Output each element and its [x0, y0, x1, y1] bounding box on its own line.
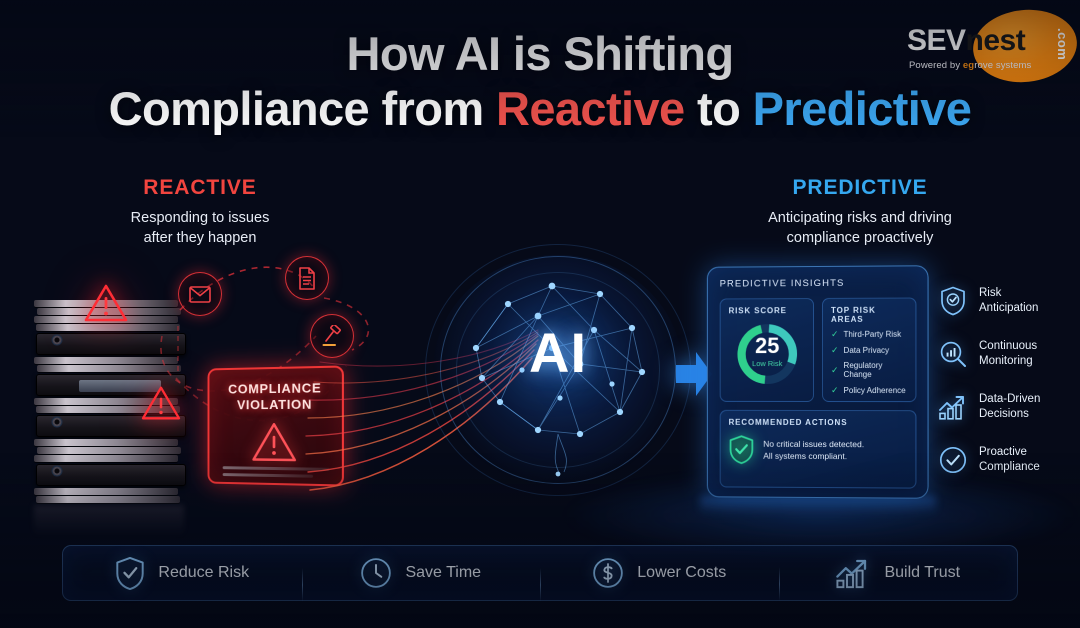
- dashboard-title: PREDICTIVE INSIGHTS: [720, 277, 917, 289]
- feature-item-data-driven-decisions[interactable]: Data-Driven Decisions: [938, 380, 1073, 433]
- benefit-label: Lower Costs: [637, 564, 726, 582]
- risk-area-label: Data Privacy: [844, 345, 890, 354]
- reactive-heading-block: REACTIVE Responding to issues after they…: [60, 176, 340, 248]
- feature-label-line2: Compliance: [979, 461, 1040, 473]
- list-item: ✓ Third-Party Risk: [831, 330, 907, 339]
- risk-score-level: Low Risk: [729, 359, 806, 368]
- benefit-label: Reduce Risk: [158, 564, 249, 582]
- benefit-item-build-trust[interactable]: Build Trust: [779, 556, 1018, 590]
- title-predictive-word: Predictive: [753, 82, 972, 135]
- envelope-icon: [178, 272, 222, 316]
- clock-icon: [360, 557, 392, 589]
- benefit-item-reduce-risk[interactable]: Reduce Risk: [63, 556, 302, 591]
- risk-area-label: Third-Party Risk: [844, 330, 902, 339]
- feature-label-line1: Risk: [979, 287, 1001, 299]
- feature-label-line1: Proactive: [979, 446, 1027, 458]
- feature-label-line2: Decisions: [979, 408, 1029, 420]
- benefits-bar: Reduce Risk Save Time Lower Costs: [62, 545, 1018, 601]
- risk-area-label: Policy Adherence: [844, 386, 906, 395]
- warning-triangle-icon: [251, 420, 298, 462]
- reactive-kicker: REACTIVE: [60, 176, 340, 200]
- recommended-actions-text: No critical issues detected. All systems…: [763, 438, 864, 463]
- stack-reflection: [34, 505, 184, 545]
- benefit-item-save-time[interactable]: Save Time: [302, 557, 541, 589]
- risk-area-label: Regulatory Change: [844, 361, 908, 379]
- title-line2-connector: to: [685, 82, 753, 135]
- title-reactive-word: Reactive: [496, 82, 685, 135]
- reactive-subtitle-line1: Responding to issues: [131, 210, 270, 226]
- shield-check-icon: [115, 556, 145, 591]
- check-icon: ✓: [831, 386, 839, 395]
- benefit-label: Build Trust: [884, 564, 960, 582]
- title-line-1: How AI is Shifting: [347, 27, 734, 80]
- list-item: ✓ Policy Adherence: [831, 386, 907, 395]
- compliance-violation-card: COMPLIANCE VIOLATION: [208, 365, 344, 486]
- recommended-actions-line2: All systems compliant.: [763, 451, 847, 461]
- predictive-subtitle-line2: compliance proactively: [787, 230, 934, 246]
- ai-brain-label: AI: [418, 320, 698, 385]
- shield-check-icon: [729, 435, 755, 465]
- document-icon: [285, 256, 329, 300]
- feature-label: Risk Anticipation: [979, 286, 1038, 315]
- dollar-circle-icon: [592, 557, 624, 589]
- predictive-subtitle: Anticipating risks and driving complianc…: [720, 209, 1000, 248]
- ai-brain: AI: [418, 246, 698, 494]
- risk-score-donut: 25 Low Risk: [729, 318, 806, 390]
- risk-score-header: RISK SCORE: [729, 306, 805, 315]
- feature-item-proactive-compliance[interactable]: Proactive Compliance: [938, 433, 1073, 486]
- infographic-canvas: SEVnest .com Powered by egrove systems H…: [0, 0, 1080, 628]
- page-title: How AI is Shifting Compliance from React…: [0, 26, 1080, 137]
- title-line-2: Compliance from Reactive to Predictive: [0, 81, 1080, 136]
- violation-line2: VIOLATION: [237, 397, 312, 413]
- feature-list: Risk Anticipation Continuous Monitoring: [938, 274, 1073, 486]
- recommended-actions-header: RECOMMENDED ACTIONS: [729, 418, 908, 427]
- risk-score-card[interactable]: RISK SCORE 25 Low Risk: [720, 298, 814, 402]
- risk-score-value: 25: [729, 335, 806, 357]
- list-item: ✓ Data Privacy: [831, 345, 907, 354]
- warning-triangle-icon: [140, 385, 182, 421]
- check-icon: ✓: [831, 365, 839, 374]
- violation-title: COMPLIANCE VIOLATION: [209, 380, 341, 414]
- recommended-actions-card[interactable]: RECOMMENDED ACTIONS No critical issues d…: [720, 410, 917, 489]
- gavel-icon: [310, 314, 354, 358]
- feature-label-line1: Continuous: [979, 340, 1037, 352]
- dashboard-base-glow: [700, 496, 936, 514]
- circle-check-icon: [938, 446, 968, 474]
- list-item: ✓ Regulatory Change: [831, 361, 907, 379]
- feature-label-line2: Anticipation: [979, 302, 1038, 314]
- predictive-insights-dashboard[interactable]: PREDICTIVE INSIGHTS RISK SCORE 25 Low Ri…: [707, 265, 929, 499]
- title-line2-prefix: Compliance from: [109, 82, 496, 135]
- predictive-subtitle-line1: Anticipating risks and driving: [768, 210, 952, 226]
- magnifier-chart-icon: [938, 340, 968, 368]
- reactive-subtitle-line2: after they happen: [144, 230, 257, 246]
- feature-item-continuous-monitoring[interactable]: Continuous Monitoring: [938, 327, 1073, 380]
- warning-triangle-icon: [83, 283, 129, 323]
- predictive-kicker: PREDICTIVE: [720, 176, 1000, 200]
- bar-chart-arrow-icon: [835, 556, 871, 590]
- feature-label: Proactive Compliance: [979, 445, 1040, 474]
- feature-label-line1: Data-Driven: [979, 393, 1040, 405]
- reactive-subtitle: Responding to issues after they happen: [60, 209, 340, 248]
- recommended-actions-line1: No critical issues detected.: [763, 439, 864, 449]
- bar-chart-arrow-icon: [938, 393, 968, 421]
- benefit-item-lower-costs[interactable]: Lower Costs: [540, 557, 779, 589]
- benefit-label: Save Time: [405, 564, 481, 582]
- risk-score-value-group: 25 Low Risk: [729, 335, 806, 368]
- shield-check-icon: [938, 286, 968, 316]
- feature-item-risk-anticipation[interactable]: Risk Anticipation: [938, 274, 1073, 327]
- top-risk-areas-list: ✓ Third-Party Risk ✓ Data Privacy ✓ Regu…: [831, 330, 907, 395]
- check-icon: ✓: [831, 330, 839, 339]
- feature-label-line2: Monitoring: [979, 355, 1033, 367]
- feature-label: Continuous Monitoring: [979, 339, 1037, 368]
- top-risk-areas-card[interactable]: TOP RISK AREAS ✓ Third-Party Risk ✓ Data…: [822, 298, 916, 403]
- feature-label: Data-Driven Decisions: [979, 392, 1040, 421]
- top-risk-areas-header: TOP RISK AREAS: [831, 306, 907, 324]
- violation-line1: COMPLIANCE: [228, 380, 321, 396]
- check-icon: ✓: [831, 345, 839, 354]
- predictive-heading-block: PREDICTIVE Anticipating risks and drivin…: [720, 176, 1000, 248]
